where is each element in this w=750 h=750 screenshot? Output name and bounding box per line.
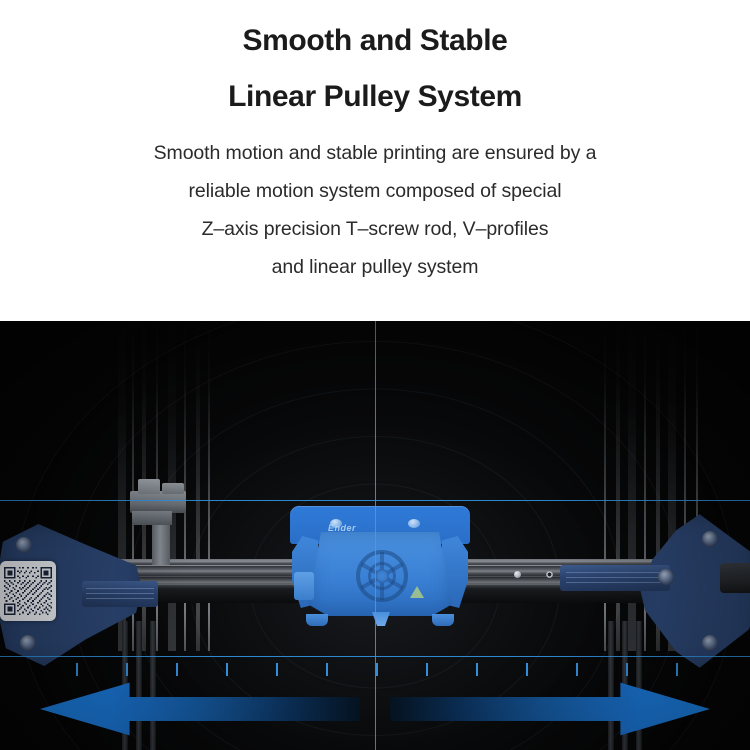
belt-tensioner-assembly (130, 471, 188, 513)
description-line-4: and linear pulley system (15, 248, 735, 286)
warning-triangle-icon (410, 586, 424, 598)
bracket-bolt (16, 537, 32, 553)
qr-code-icon (4, 565, 52, 617)
arrow-right-icon (390, 679, 710, 739)
bracket-bolt (20, 635, 36, 651)
carriage-foot (432, 614, 454, 626)
right-pulley-bracket (632, 511, 750, 671)
bracket-bolt (658, 569, 674, 585)
text-block: Smooth and Stable Linear Pulley System S… (0, 0, 750, 321)
belt-end-cap (720, 563, 750, 593)
product-photo: Ender (0, 321, 750, 750)
description-paragraph: Smooth motion and stable printing are en… (15, 134, 735, 286)
travel-direction-arrows (0, 673, 750, 745)
headline-line-1: Smooth and Stable (243, 26, 508, 56)
description-line-2: reliable motion system composed of speci… (15, 172, 735, 210)
horizontal-guide-line-top (0, 500, 750, 501)
bracket-bolt (702, 531, 718, 547)
cooling-fan-grille (356, 550, 408, 602)
description-line-1: Smooth motion and stable printing are en… (15, 134, 735, 172)
carriage-foot (306, 614, 328, 626)
rail-screw (546, 571, 553, 578)
rail-screw (514, 571, 521, 578)
left-pulley-bracket (0, 521, 142, 669)
left-bracket-arm (82, 581, 158, 607)
print-head-carriage: Ender (290, 506, 470, 641)
description-line-3: Z–axis precision T–screw rod, V–profiles (15, 210, 735, 248)
right-bracket-arm (560, 565, 670, 591)
qr-code-sticker (0, 561, 56, 621)
filament-clamp (294, 572, 314, 600)
headline-line-2: Linear Pulley System (228, 82, 522, 112)
arrow-left-icon (40, 679, 360, 739)
bracket-bolt (702, 635, 718, 651)
page-root: Smooth and Stable Linear Pulley System S… (0, 0, 750, 750)
